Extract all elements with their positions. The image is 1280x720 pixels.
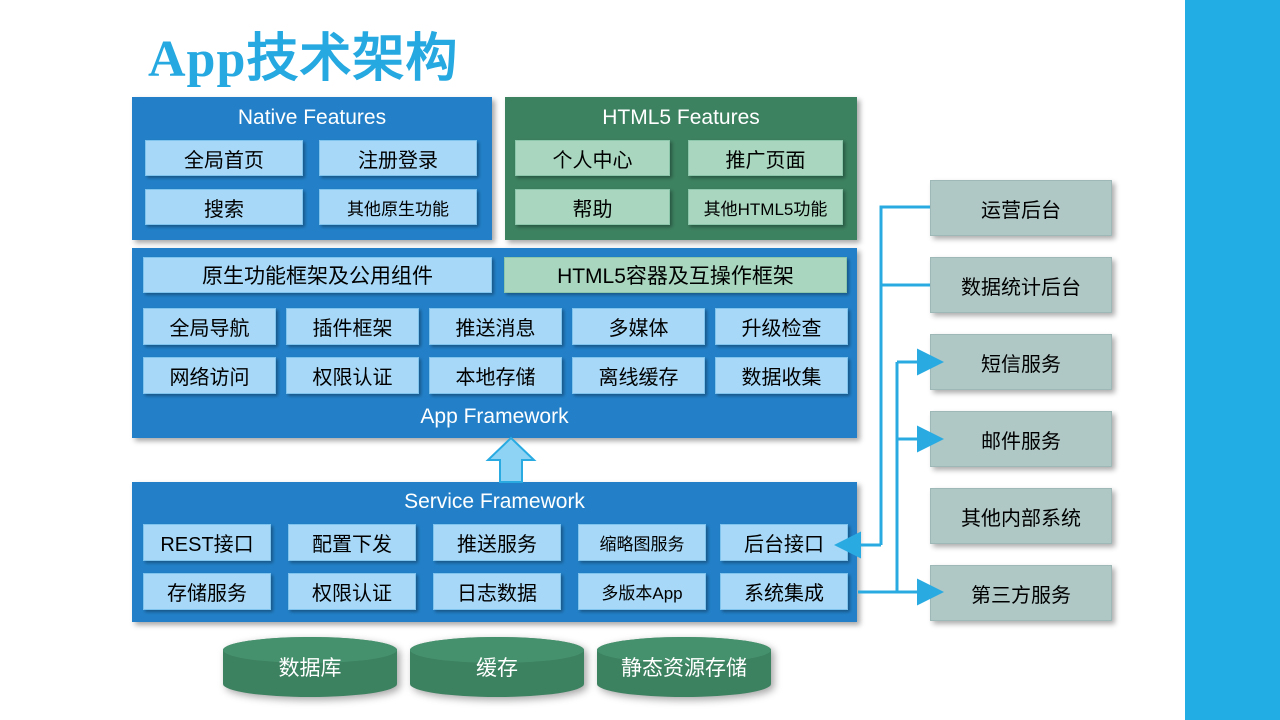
- app-framework-r1c0[interactable]: 全局导航: [143, 308, 276, 345]
- service-r2c3[interactable]: 多版本App: [578, 573, 706, 610]
- native-cell-1[interactable]: 注册登录: [319, 140, 477, 176]
- left-accent-band: [0, 0, 10, 720]
- app-framework-r2c4[interactable]: 数据收集: [715, 357, 848, 394]
- slide-canvas: App技术架构 Native Features 全局首页 注册登录 搜索 其他原…: [0, 0, 1280, 720]
- native-cell-2[interactable]: 搜索: [145, 189, 303, 225]
- upper-connector-bus: [881, 207, 930, 545]
- html5-features-title: HTML5 Features: [505, 103, 857, 133]
- side-system-0[interactable]: 运营后台: [930, 180, 1112, 236]
- storage-label-0: 数据库: [222, 636, 398, 698]
- service-framework-title: Service Framework: [132, 487, 857, 517]
- page-title: App技术架构: [148, 16, 458, 91]
- native-features-title: Native Features: [132, 103, 492, 133]
- app-framework-label: App Framework: [132, 402, 857, 432]
- app-framework-r2c1[interactable]: 权限认证: [286, 357, 419, 394]
- app-framework-r2c3[interactable]: 离线缓存: [572, 357, 705, 394]
- app-framework-bar-native[interactable]: 原生功能框架及公用组件: [143, 257, 492, 293]
- service-r2c2[interactable]: 日志数据: [433, 573, 561, 610]
- service-r2c0[interactable]: 存储服务: [143, 573, 271, 610]
- side-system-5[interactable]: 第三方服务: [930, 565, 1112, 621]
- html5-cell-0[interactable]: 个人中心: [515, 140, 670, 176]
- lower-connector-bus: [858, 362, 920, 592]
- side-system-3[interactable]: 邮件服务: [930, 411, 1112, 467]
- side-system-4[interactable]: 其他内部系统: [930, 488, 1112, 544]
- app-framework-r2c0[interactable]: 网络访问: [143, 357, 276, 394]
- storage-cylinder-1[interactable]: 缓存: [409, 636, 585, 698]
- native-cell-0[interactable]: 全局首页: [145, 140, 303, 176]
- service-r2c4[interactable]: 系统集成: [720, 573, 848, 610]
- native-cell-3[interactable]: 其他原生功能: [319, 189, 477, 225]
- right-accent-band: [1185, 0, 1280, 720]
- html5-cell-3[interactable]: 其他HTML5功能: [688, 189, 843, 225]
- app-framework-bar-html5[interactable]: HTML5容器及互操作框架: [504, 257, 847, 293]
- side-system-1[interactable]: 数据统计后台: [930, 257, 1112, 313]
- framework-link-double-arrow: [488, 438, 534, 482]
- html5-cell-1[interactable]: 推广页面: [688, 140, 843, 176]
- side-system-2[interactable]: 短信服务: [930, 334, 1112, 390]
- storage-label-2: 静态资源存储: [596, 636, 772, 698]
- storage-label-1: 缓存: [409, 636, 585, 698]
- service-r1c0[interactable]: REST接口: [143, 524, 271, 561]
- storage-cylinder-2[interactable]: 静态资源存储: [596, 636, 772, 698]
- app-framework-r1c1[interactable]: 插件框架: [286, 308, 419, 345]
- storage-cylinder-0[interactable]: 数据库: [222, 636, 398, 698]
- service-r1c3[interactable]: 缩略图服务: [578, 524, 706, 561]
- service-r1c2[interactable]: 推送服务: [433, 524, 561, 561]
- service-r1c1[interactable]: 配置下发: [288, 524, 416, 561]
- app-framework-r1c3[interactable]: 多媒体: [572, 308, 705, 345]
- app-framework-r1c4[interactable]: 升级检查: [715, 308, 848, 345]
- app-framework-r2c2[interactable]: 本地存储: [429, 357, 562, 394]
- html5-cell-2[interactable]: 帮助: [515, 189, 670, 225]
- service-r1c4[interactable]: 后台接口: [720, 524, 848, 561]
- app-framework-r1c2[interactable]: 推送消息: [429, 308, 562, 345]
- service-r2c1[interactable]: 权限认证: [288, 573, 416, 610]
